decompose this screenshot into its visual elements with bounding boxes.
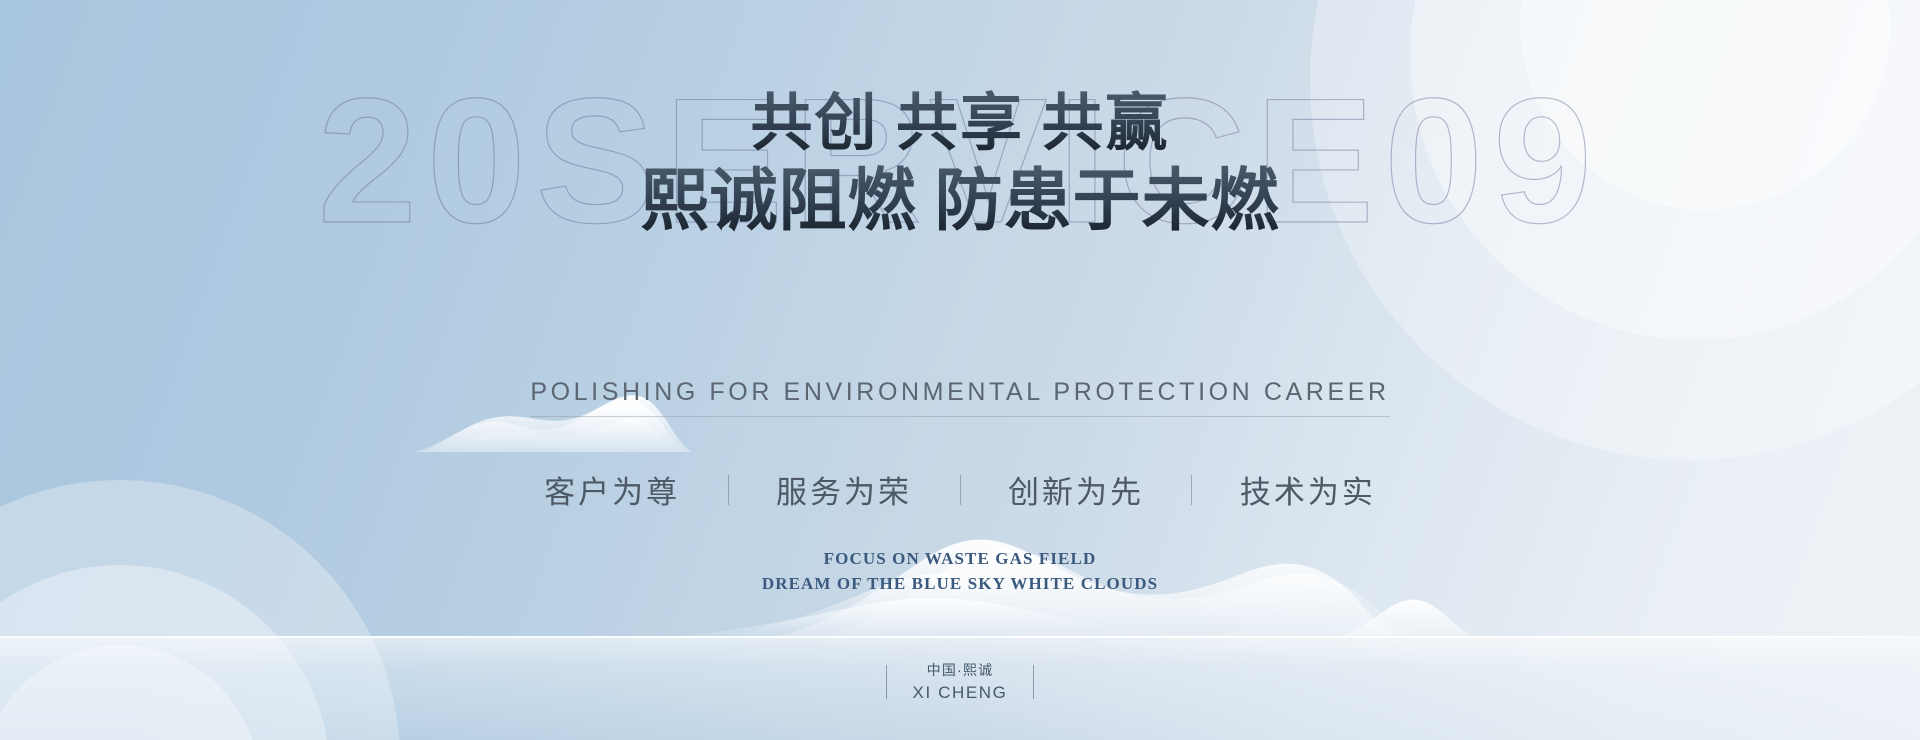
tagline-text: POLISHING FOR ENVIRONMENTAL PROTECTION C…	[530, 378, 1389, 417]
headline-line-2: 熙诚阻燃 防患于未燃	[0, 161, 1920, 241]
value-separator	[728, 475, 729, 505]
value-separator	[960, 475, 961, 505]
logo-name-cn: 中国·熙诚	[913, 660, 1008, 682]
value-item-4: 技术为实	[1240, 467, 1376, 512]
logo-divider-right	[1033, 665, 1034, 699]
value-item-1: 客户为尊	[544, 467, 680, 512]
value-separator	[1191, 475, 1192, 505]
logo-name-en: XI CHENG	[913, 682, 1008, 705]
headline-group: 共创 共享 共赢 熙诚阻燃 防患于未燃	[0, 88, 1920, 241]
sub-slogan-line-2: DREAM OF THE BLUE SKY WHITE CLOUDS	[0, 572, 1920, 597]
brand-logo: 中国·熙诚 XI CHENG	[0, 660, 1920, 705]
logo-text-group: 中国·熙诚 XI CHENG	[913, 660, 1008, 705]
value-item-3: 创新为先	[1008, 467, 1144, 512]
logo-divider-left	[886, 665, 887, 699]
headline-line-1: 共创 共享 共赢	[0, 88, 1920, 161]
sub-slogan-line-1: FOCUS ON WASTE GAS FIELD	[0, 547, 1920, 572]
promotional-banner: 20SERVICE09 共创 共享 共赢 熙诚阻燃 防患于未燃 POLISHIN…	[0, 0, 1920, 740]
value-item-2: 服务为荣	[776, 467, 912, 512]
sub-slogan-group: FOCUS ON WASTE GAS FIELD DREAM OF THE BL…	[0, 547, 1920, 596]
values-row: 客户为尊 服务为荣 创新为先 技术为实	[0, 467, 1920, 512]
tagline: POLISHING FOR ENVIRONMENTAL PROTECTION C…	[0, 378, 1920, 417]
horizon-line	[0, 636, 1920, 638]
